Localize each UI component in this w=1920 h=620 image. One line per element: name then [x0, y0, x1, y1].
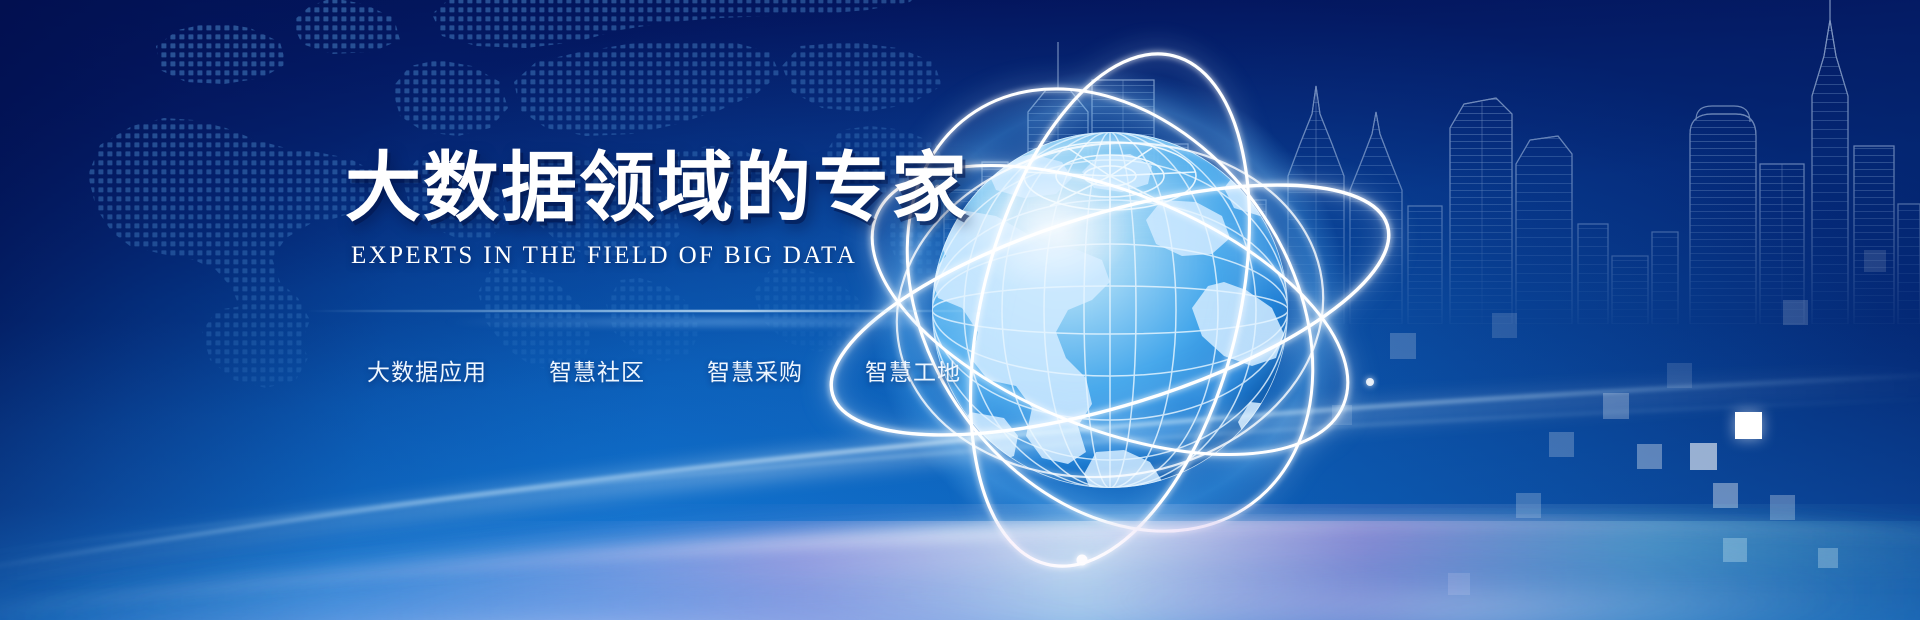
keyword-item-1[interactable]: 智慧社区 [549, 353, 645, 387]
banner-root: 大数据领域的专家 EXPERTS IN THE FIELD OF BIG DAT… [0, 0, 1920, 620]
page-title: 大数据领域的专家 [345, 150, 1105, 226]
divider-glow [285, 316, 1045, 328]
keyword-item-0[interactable]: 大数据应用 [367, 353, 487, 387]
page-subtitle: EXPERTS IN THE FIELD OF BIG DATA [351, 242, 1105, 270]
divider-line [305, 310, 1005, 312]
keyword-list: 大数据应用 智慧社区 智慧采购 智慧工地 [367, 353, 961, 387]
keyword-item-2[interactable]: 智慧采购 [707, 353, 803, 387]
hero-text-block: 大数据领域的专家 EXPERTS IN THE FIELD OF BIG DAT… [345, 150, 1105, 270]
keyword-item-3[interactable]: 智慧工地 [865, 353, 961, 387]
